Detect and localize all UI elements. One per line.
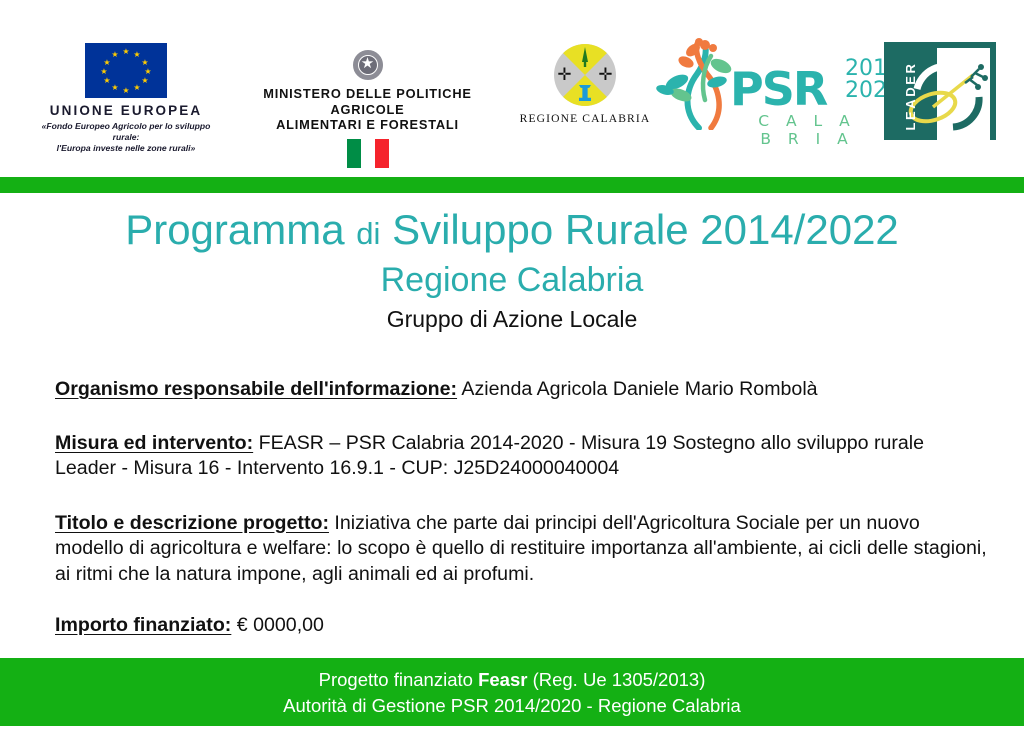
regione-calabria-logo: ✛ ✛ REGIONE CALABRIA — [505, 44, 665, 125]
footer-line-2: Autorità di Gestione PSR 2014/2020 - Reg… — [0, 693, 1024, 719]
green-divider-bar — [0, 177, 1024, 193]
title-word-di: di — [356, 216, 380, 251]
paragraph-misura: Misura ed intervento: FEASR – PSR Calabr… — [55, 431, 990, 482]
psr-calabria-logo: PSR 2014 2020 C A L A B R I A — [655, 38, 867, 138]
leader-logo: LEADER — [884, 42, 996, 140]
eu-logo-subtitle: «Fondo Europeo Agricolo per lo sviluppo … — [28, 121, 224, 154]
page-subtitle-region: Regione Calabria — [0, 259, 1024, 301]
title-word-programma: Programma — [125, 206, 344, 253]
psr-acronym-text: PSR — [730, 62, 826, 116]
ministero-title-line1: MINISTERO DELLE POLITICHE AGRICOLE — [263, 86, 471, 117]
psr-plant-icon — [655, 38, 735, 130]
label-titolo-progetto: Titolo e descrizione progetto: — [55, 512, 329, 534]
page-title: Programma di Sviluppo Rurale 2014/2022 — [0, 205, 1024, 259]
footer-line1-post: (Reg. Ue 1305/2013) — [527, 669, 705, 690]
paragraph-titolo-progetto: Titolo e descrizione progetto: Iniziativ… — [55, 511, 990, 588]
repubblica-italiana-emblem-icon: ★ — [351, 46, 385, 82]
leader-logo-text: LEADER — [903, 57, 918, 135]
label-importo: Importo finanziato: — [55, 614, 231, 636]
value-importo: € 0000,00 — [231, 614, 324, 636]
ministero-title-line2: ALIMENTARI E FORESTALI — [276, 117, 459, 132]
title-block: Programma di Sviluppo Rurale 2014/2022 R… — [0, 193, 1024, 335]
footer-bottom-strip — [0, 726, 1024, 733]
regione-calabria-logo-title: REGIONE CALABRIA — [505, 112, 665, 125]
value-organismo: Azienda Agricola Daniele Mario Rombolà — [457, 378, 818, 400]
psr-region-text: C A L A B R I A — [747, 112, 867, 148]
eu-flag-icon: ★ ★ ★ ★ ★ ★ ★ ★ ★ ★ ★ ★ — [85, 43, 167, 98]
label-misura: Misura ed intervento: — [55, 432, 253, 454]
unione-europea-logo: ★ ★ ★ ★ ★ ★ ★ ★ ★ ★ ★ ★ UNIONE EUROPEA «… — [28, 43, 224, 154]
calabria-shield-icon: ✛ ✛ — [554, 44, 616, 106]
footer-line1-bold: Feasr — [478, 669, 527, 690]
label-organismo: Organismo responsabile dell'informazione… — [55, 378, 457, 400]
eu-subtitle-line1: «Fondo Europeo Agricolo per lo sviluppo … — [42, 121, 211, 142]
italian-flag-icon — [347, 139, 389, 168]
ministero-politiche-agricole-logo: ★ MINISTERO DELLE POLITICHE AGRICOLE ALI… — [235, 46, 500, 168]
eu-logo-title: UNIONE EUROPEA — [28, 103, 224, 118]
logo-header-bar: ★ ★ ★ ★ ★ ★ ★ ★ ★ ★ ★ ★ UNIONE EUROPEA «… — [0, 0, 1024, 177]
ministero-logo-title: MINISTERO DELLE POLITICHE AGRICOLE ALIME… — [235, 86, 500, 133]
main-content: Programma di Sviluppo Rurale 2014/2022 R… — [0, 193, 1024, 658]
eu-subtitle-line2: l'Europa investe nelle zone rurali» — [57, 143, 196, 153]
footer-bar: Progetto finanziato Feasr (Reg. Ue 1305/… — [0, 658, 1024, 726]
title-word-sviluppo-rurale: Sviluppo Rurale 2014/2022 — [392, 206, 899, 253]
paragraph-importo: Importo finanziato: € 0000,00 — [55, 613, 990, 639]
footer-line-1: Progetto finanziato Feasr (Reg. Ue 1305/… — [0, 658, 1024, 693]
leader-logo-box: LEADER — [884, 42, 996, 140]
paragraph-organismo: Organismo responsabile dell'informazione… — [55, 377, 990, 403]
footer-line1-pre: Progetto finanziato — [319, 669, 478, 690]
page-subtitle-gal: Gruppo di Azione Locale — [0, 303, 1024, 335]
